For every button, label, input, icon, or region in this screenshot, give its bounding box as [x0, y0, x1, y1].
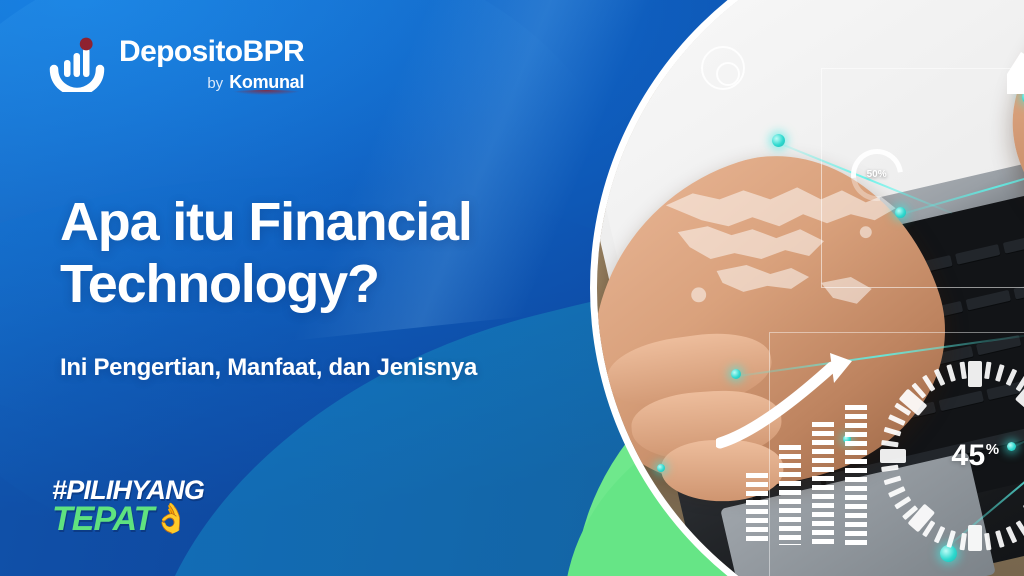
campaign-badge: #PILIHYANG TEPAT 👌 — [52, 478, 204, 535]
bar-chart-smile-icon — [48, 36, 106, 92]
brand-name-part1: Deposito — [119, 35, 243, 68]
page-title: Apa itu Financial Technology? — [60, 192, 580, 315]
banner-canvas: 50% 45% DepositoBPR — [0, 0, 1024, 576]
hero-photo-circle: 50% 45% — [590, 0, 1024, 576]
brand-parent: by Komunal — [207, 73, 304, 91]
brand-name: DepositoBPR — [119, 37, 304, 67]
page-subtitle: Ini Pengertian, Manfaat, dan Jenisnya — [60, 352, 490, 384]
badge-line-2-row: TEPAT 👌 — [52, 504, 204, 535]
brand-wordmark: DepositoBPR by Komunal — [119, 37, 304, 91]
badge-line-2: TEPAT — [52, 504, 153, 535]
brand-by-label: by — [207, 76, 223, 91]
brand-parent-name: Komunal — [229, 73, 304, 91]
ok-hand-emoji: 👌 — [153, 505, 189, 534]
brand-logo[interactable]: DepositoBPR by Komunal — [48, 36, 304, 92]
hero-photo: 50% 45% — [597, 0, 1024, 576]
brand-name-part2: BPR — [243, 35, 305, 68]
